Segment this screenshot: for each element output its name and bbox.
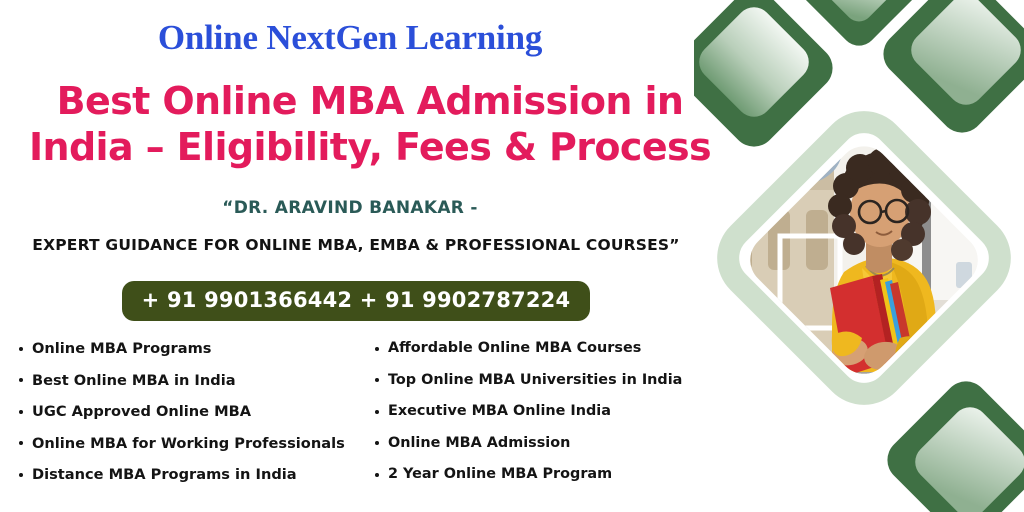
list-item: Executive MBA Online India	[374, 396, 724, 428]
diamond-top-right	[874, 0, 1024, 142]
phone-badge-container: + 91 9901366442 + 91 9902787224	[0, 281, 712, 321]
list-item: Online MBA Admission	[374, 428, 724, 460]
bullet-dot-icon	[19, 410, 23, 414]
list-item-label: UGC Approved Online MBA	[32, 403, 251, 420]
list-item: Affordable Online MBA Courses	[374, 333, 724, 365]
student-photo	[694, 110, 1024, 420]
bullet-dot-icon	[375, 473, 379, 477]
list-item-label: Top Online MBA Universities in India	[388, 372, 682, 388]
bullet-dot-icon	[375, 441, 379, 445]
bullet-dot-icon	[19, 347, 23, 351]
list-item: Top Online MBA Universities in India	[374, 365, 724, 397]
headline-line-1: Best Online MBA Admission in	[57, 79, 684, 123]
page-title: Best Online MBA Admission in India – Eli…	[0, 78, 740, 171]
bullet-dot-icon	[19, 473, 23, 477]
chevron-frame	[714, 108, 1014, 408]
bullet-dot-icon	[375, 378, 379, 382]
list-item-label: Best Online MBA in India	[32, 372, 236, 389]
brand-kicker: Online NextGen Learning	[0, 18, 700, 58]
expert-name: “DR. ARAVIND BANAKAR -	[0, 198, 700, 218]
list-item: Online MBA for Working Professionals	[18, 428, 378, 460]
list-item-label: 2 Year Online MBA Program	[388, 466, 612, 482]
bullet-dot-icon	[375, 410, 379, 414]
list-item: Best Online MBA in India	[18, 365, 378, 397]
list-item-label: Affordable Online MBA Courses	[388, 340, 641, 356]
bullet-dot-icon	[19, 441, 23, 445]
red-books	[830, 274, 915, 376]
keyword-column-right: Affordable Online MBA Courses Top Online…	[374, 333, 724, 491]
list-item: Online MBA Programs	[18, 333, 378, 365]
diamond-bottom-right	[878, 372, 1024, 512]
list-item: UGC Approved Online MBA	[18, 396, 378, 428]
list-item-label: Distance MBA Programs in India	[32, 466, 297, 483]
decorative-graphics-panel	[694, 0, 1024, 512]
list-item-label: Online MBA for Working Professionals	[32, 435, 345, 452]
keyword-lists: Online MBA Programs Best Online MBA in I…	[0, 333, 740, 508]
bullet-dot-icon	[375, 347, 379, 351]
expert-tagline: EXPERT GUIDANCE FOR ONLINE MBA, EMBA & P…	[0, 236, 712, 254]
list-item-label: Executive MBA Online India	[388, 403, 611, 419]
headline-line-2: India – Eligibility, Fees & Process	[0, 124, 740, 170]
phone-badge[interactable]: + 91 9901366442 + 91 9902787224	[122, 281, 591, 321]
list-item-label: Online MBA Programs	[32, 340, 212, 357]
bullet-dot-icon	[19, 378, 23, 382]
keyword-column-left: Online MBA Programs Best Online MBA in I…	[18, 333, 378, 491]
promo-banner: Online NextGen Learning Best Online MBA …	[0, 0, 1024, 512]
list-item-label: Online MBA Admission	[388, 435, 570, 451]
diamond-top-middle	[794, 0, 924, 53]
list-item: Distance MBA Programs in India	[18, 459, 378, 491]
banner-content: Online NextGen Learning Best Online MBA …	[0, 0, 740, 512]
list-item: 2 Year Online MBA Program	[374, 459, 724, 491]
